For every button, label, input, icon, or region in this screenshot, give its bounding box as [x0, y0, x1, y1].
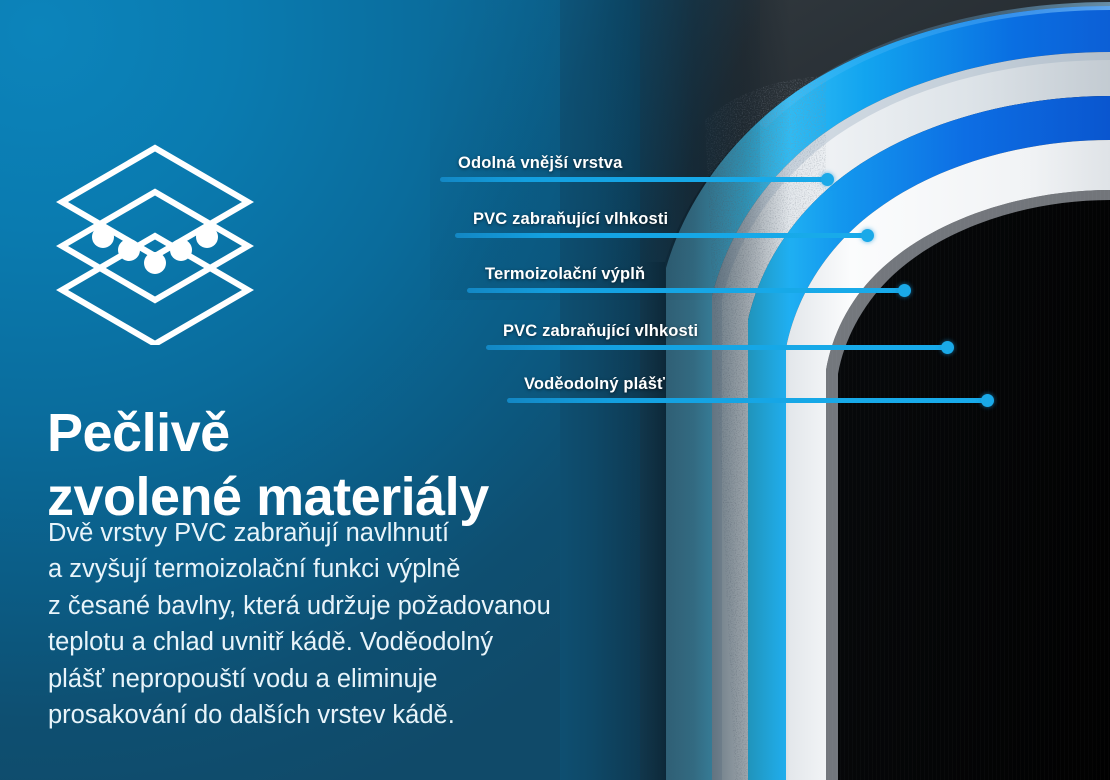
- callout-dot: [941, 341, 954, 354]
- callout-pvc-zabranujici-vlhkosti-2: PVC zabraňující vlhkosti: [0, 304, 1110, 350]
- infographic-canvas: Odolná vnější vrstva PVC zabraňující vlh…: [0, 0, 1110, 780]
- body-line: plášť nepropouští vodu a eliminuje: [48, 661, 668, 697]
- callout-pvc-zabranujici-vlhkosti-1: PVC zabraňující vlhkosti: [0, 192, 1110, 238]
- body-line: a zvyšují termoizolační funkci výplně: [48, 551, 668, 587]
- callout-dot: [981, 394, 994, 407]
- callout-dot: [898, 284, 911, 297]
- callout-odolna-vnejsi-vrstva: Odolná vnější vrstva: [0, 136, 1110, 182]
- callout-vodeodolny-plast: Voděodolný plášť: [0, 357, 1110, 403]
- body-line: z česané bavlny, která udržuje požadovan…: [48, 588, 668, 624]
- callout-line: [440, 177, 828, 182]
- callout-label: Odolná vnější vrstva: [458, 154, 622, 173]
- callout-label: Termoizolační výplň: [485, 265, 645, 284]
- body-line: teplotu a chlad uvnitř kádě. Voděodolný: [48, 624, 668, 660]
- body-paragraph: Dvě vrstvy PVC zabraňují navlhnutí a zvy…: [48, 515, 668, 734]
- callout-label: PVC zabraňující vlhkosti: [473, 210, 668, 229]
- callout-line: [467, 288, 905, 293]
- body-line: prosakování do dalších vrstev kádě.: [48, 697, 668, 733]
- callout-line: [486, 345, 948, 350]
- callout-dot: [861, 229, 874, 242]
- title-line-1: Pečlivě: [47, 403, 230, 463]
- callout-label: PVC zabraňující vlhkosti: [503, 322, 698, 341]
- page-title: Pečlivě zvolené materiály: [47, 402, 607, 529]
- callout-line: [455, 233, 868, 238]
- body-line: Dvě vrstvy PVC zabraňují navlhnutí: [48, 515, 668, 551]
- callout-label: Voděodolný plášť: [524, 375, 665, 394]
- callout-termoizolacni-vypln: Termoizolační výplň: [0, 247, 1110, 293]
- callout-dot: [821, 173, 834, 186]
